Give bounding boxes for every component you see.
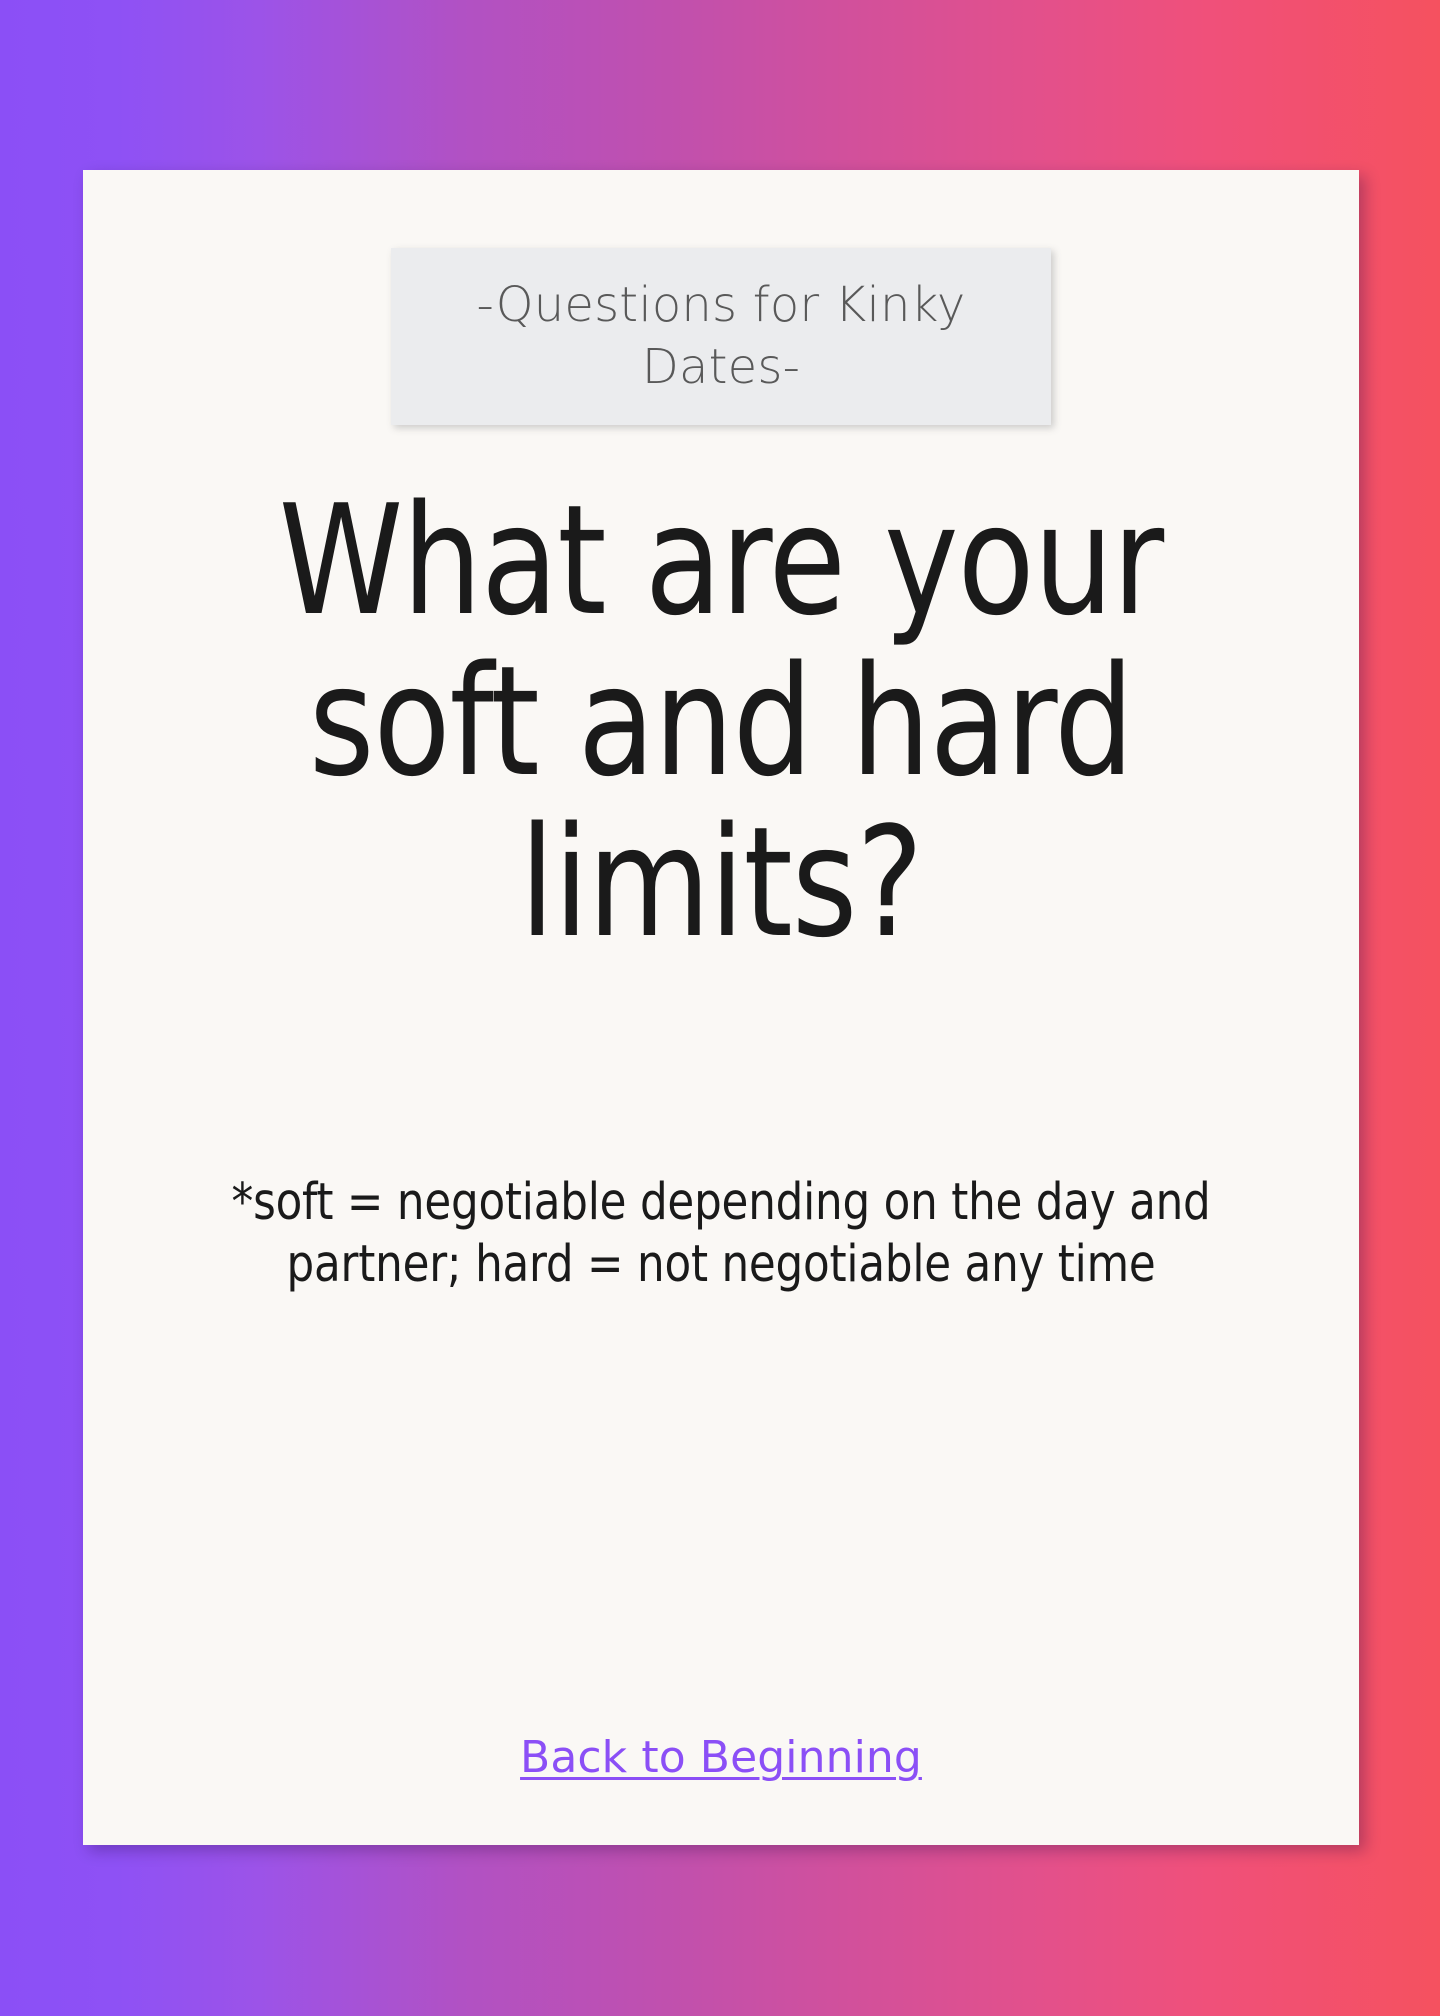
deck-title-badge: -Questions for Kinky Dates-: [391, 248, 1051, 425]
deck-title-text: -Questions for Kinky Dates-: [417, 275, 1025, 398]
slide-card: -Questions for Kinky Dates- What are you…: [83, 170, 1359, 1845]
badge-container: -Questions for Kinky Dates-: [83, 248, 1359, 425]
note-container: *soft = negotiable depending on the day …: [133, 1172, 1309, 1296]
back-to-beginning-link[interactable]: Back to Beginning: [520, 1732, 922, 1785]
slide-stage: -Questions for Kinky Dates- What are you…: [0, 0, 1440, 2016]
footer-container: Back to Beginning: [83, 1732, 1359, 1785]
definition-note: *soft = negotiable depending on the day …: [162, 1172, 1279, 1296]
question-heading: What are your soft and hard limits?: [180, 480, 1262, 963]
question-container: What are your soft and hard limits?: [133, 480, 1309, 963]
